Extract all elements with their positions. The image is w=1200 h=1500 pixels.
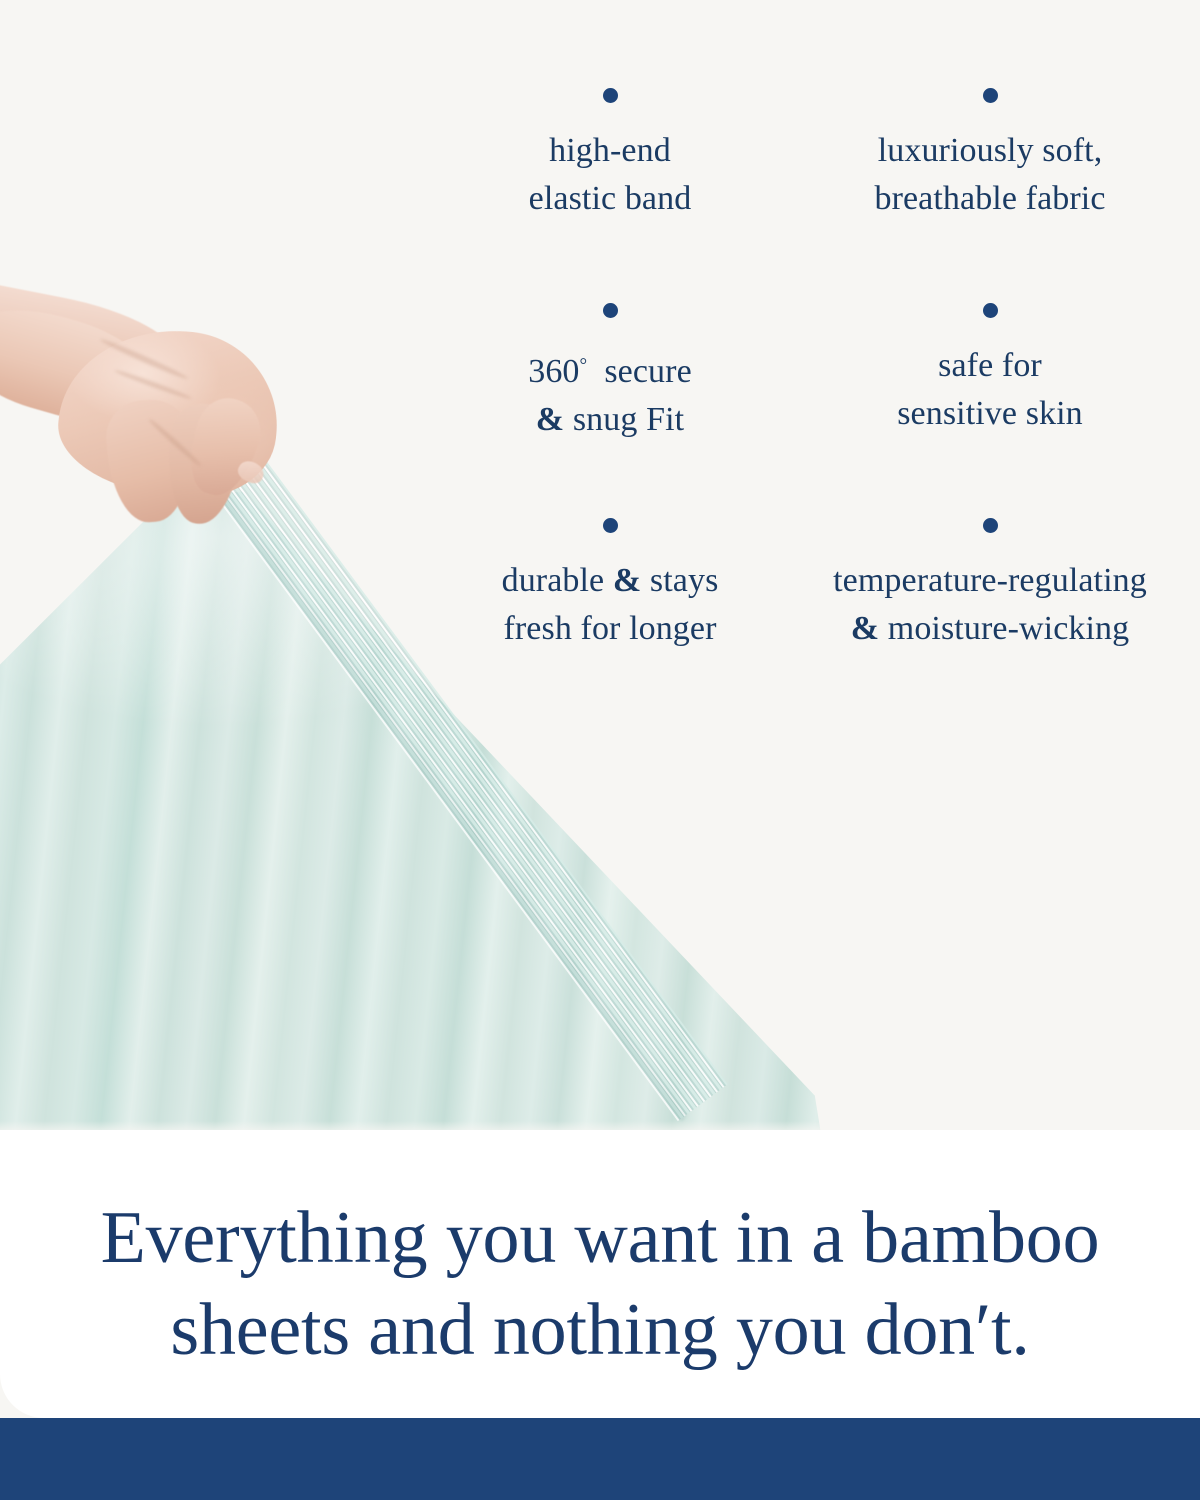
headline-text: Everything you want in a bamboo sheets a…: [0, 1192, 1200, 1376]
ampersand: &: [851, 610, 879, 647]
feature-line2: fresh for longer: [503, 610, 716, 647]
degree-symbol-icon: °: [580, 355, 588, 376]
feature-list: high-end elastic band luxuriously soft, …: [420, 88, 1180, 733]
feature-soft-fabric: luxuriously soft, breathable fabric: [800, 88, 1180, 303]
feature-label: luxuriously soft, breathable fabric: [874, 127, 1105, 223]
bullet-dot-icon: [983, 518, 998, 533]
ampersand: &: [536, 401, 564, 438]
bullet-dot-icon: [983, 88, 998, 103]
bullet-dot-icon: [603, 88, 618, 103]
feature-secure-fit: 360° secure& snug Fit: [420, 303, 800, 518]
feature-line2-rest: snug Fit: [573, 401, 684, 438]
feature-label: safe for sensitive skin: [897, 342, 1083, 438]
feature-temperature-regulating: temperature-regulating& moisture-wicking: [800, 518, 1180, 733]
bullet-dot-icon: [603, 518, 618, 533]
feature-line1: temperature-regulating: [833, 562, 1147, 599]
feature-sensitive-skin: safe for sensitive skin: [800, 303, 1180, 518]
bottom-navy-bar: [0, 1418, 1200, 1500]
bullet-dot-icon: [603, 303, 618, 318]
ampersand: &: [613, 562, 641, 599]
feature-degrees-value: 360: [528, 353, 579, 390]
feature-line1-post: stays: [641, 562, 718, 599]
feature-elastic-band: high-end elastic band: [420, 88, 800, 303]
feature-durable: durable & staysfresh for longer: [420, 518, 800, 733]
feature-label: durable & staysfresh for longer: [502, 557, 719, 653]
feature-line1-rest: secure: [604, 353, 691, 390]
bullet-dot-icon: [983, 303, 998, 318]
product-feature-panel: high-end elastic band luxuriously soft, …: [0, 0, 1200, 1500]
feature-label: temperature-regulating& moisture-wicking: [833, 557, 1147, 653]
feature-label: 360° secure& snug Fit: [528, 342, 692, 444]
feature-line1-pre: durable: [502, 562, 613, 599]
feature-line2: moisture-wicking: [879, 610, 1129, 647]
feature-label: high-end elastic band: [529, 127, 692, 223]
